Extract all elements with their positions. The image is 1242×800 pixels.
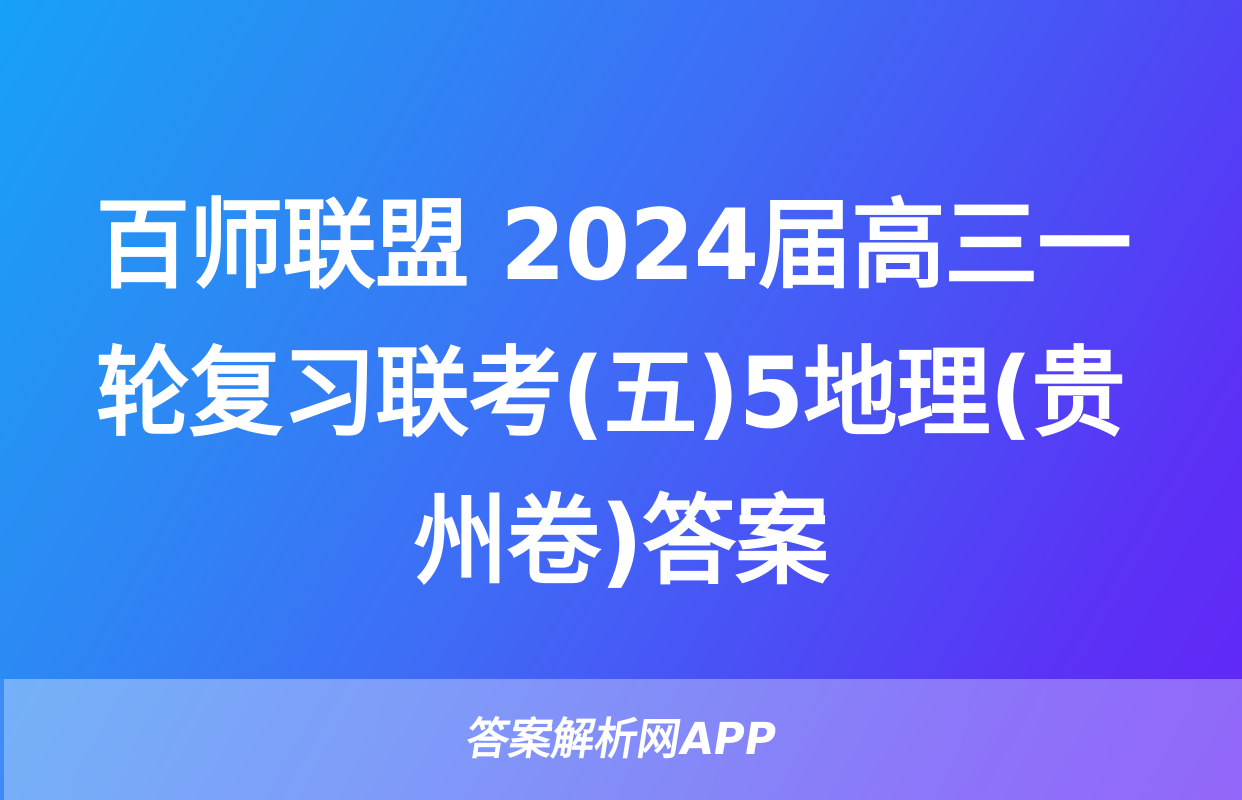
title-line-2: 轮复习联考(五)5地理(贵 [96,320,1148,468]
watermark-label: 答案解析网APP [463,718,779,762]
title-line-1: 百师联盟 2024届高三一 [96,172,1148,320]
page-title: 百师联盟 2024届高三一 轮复习联考(五)5地理(贵 州卷)答案 [0,172,1242,616]
footer-watermark-band: 答案解析网APP [0,679,1242,800]
answer-cover-poster: 百师联盟 2024届高三一 轮复习联考(五)5地理(贵 州卷)答案 答案解析网A… [0,0,1242,800]
title-line-3: 州卷)答案 [94,468,1148,616]
